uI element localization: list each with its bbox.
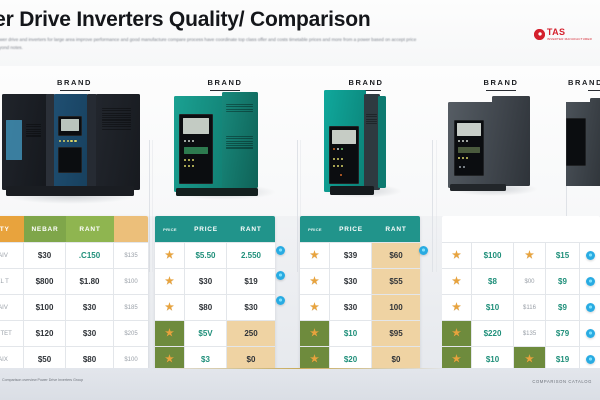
footer-left-caption: Comparison overview Power Drive Inverter… [2,378,83,382]
infographic-root: wer Drive Inverters Quality/ Comparison … [0,0,600,400]
brand-label-2: BRAND [152,78,298,91]
product-panel-4[interactable]: BRAND [436,66,566,216]
cell-value: $100 [114,269,148,294]
cell-value: $9 [546,295,580,320]
cell-value: $30 [24,243,66,268]
cell-value: $30 [66,321,114,346]
star-icon: ★ [525,355,534,365]
product-panel-3[interactable]: BRAND [300,66,432,216]
star-icon: ★ [310,251,319,261]
cell-value: $185 [114,295,148,320]
display-panel [179,114,213,184]
table-3[interactable]: PRICE PRICE RANT ★ $39 $60 ★ $30 $55 ★ $… [300,216,420,372]
cell-value: $5.50 [185,243,227,268]
star-icon: ★ [310,303,319,313]
cell-value: $00 [514,269,546,294]
check-badge-icon[interactable] [586,277,595,286]
cell-value: $30 [185,269,227,294]
brand-label-4: BRAND [436,78,566,91]
cell-value: 2.550 [227,243,275,268]
inverter-unit-1 [2,94,142,196]
star-icon: ★ [452,277,461,287]
cell-value: $120 [24,321,66,346]
inverter-unit-5 [566,98,600,190]
th-price-2: PRICE [185,216,227,242]
row-label: MAIV [0,295,24,320]
th-rant: RANT [372,216,420,242]
check-badge-icon[interactable] [276,271,285,280]
star-icon: ★ [165,355,174,365]
table-row[interactable]: ★ $10 $116 $9 [442,294,600,320]
cell-value: $100 [472,243,514,268]
cell-value: $205 [114,321,148,346]
cell-value: .C150 [66,243,114,268]
star-icon: ★ [165,251,174,261]
product-panel-2[interactable]: BRAND [152,66,298,216]
star-icon: ★ [310,355,319,365]
cell-value: $15 [546,243,580,268]
cell-value: $10 [472,295,514,320]
table-1[interactable]: LITY NEBAR RANT MAIV $30 .C150 $135 DEL … [0,216,148,372]
cell-value: $79 [546,321,580,346]
table-4[interactable]: ★ $100 ★ $15 ★ $8 $00 $9 ★ $10 $116 $9 [442,216,600,372]
cell-value: $30 [227,295,275,320]
table-row[interactable]: CTI TET $120 $30 $205 [0,320,148,346]
cell-value: $60 [372,243,420,268]
badge-column-1 [276,246,285,305]
page-title: wer Drive Inverters Quality/ Comparison [0,8,448,32]
footer-right-caption: COMPARISON CATALOG [532,379,592,384]
check-badge-icon[interactable] [419,246,428,255]
table-3-header: PRICE PRICE RANT [300,216,420,242]
inverter-unit-3 [324,88,404,196]
cell-value: $1.80 [66,269,114,294]
table-row[interactable]: DEL T $800 $1.80 $100 [0,268,148,294]
star-icon: ★ [165,303,174,313]
cell-value: $80 [185,295,227,320]
table-row[interactable]: ★ $5V 250 [155,320,275,346]
cell-value: $55 [372,269,420,294]
cell-value: $116 [514,295,546,320]
product-panel-1[interactable]: BRAND [0,66,149,216]
star-icon: ★ [310,277,319,287]
logo-text: TAS [547,28,592,37]
cell-value: $9 [546,269,580,294]
cell-value: $95 [372,321,420,346]
brand-label-5: BRAND [566,78,600,91]
star-icon: ★ [452,251,461,261]
comparison-tables: LITY NEBAR RANT MAIV $30 .C150 $135 DEL … [0,216,600,368]
cell-value: 100 [372,295,420,320]
check-badge-icon[interactable] [586,303,595,312]
badge-column-2 [419,246,428,255]
table-row[interactable]: ★ $80 $30 [155,294,275,320]
header: wer Drive Inverters Quality/ Comparison … [0,0,600,66]
table-row[interactable]: MAIV $100 $30 $185 [0,294,148,320]
check-badge-icon[interactable] [586,251,595,260]
brand-logo: TAS INVERTER MANUFACTURER [534,28,592,41]
th-price-1: PRICE [300,216,330,242]
th-blank [114,216,148,242]
cell-value: $800 [24,269,66,294]
row-label: MAIV [0,243,24,268]
cell-value: $135 [114,243,148,268]
star-icon: ★ [452,355,461,365]
check-badge-icon[interactable] [276,246,285,255]
th-nebar: NEBAR [24,216,66,242]
th-lity: LITY [0,216,24,242]
th-price-1: PRICE [155,216,185,242]
star-icon: ★ [165,329,174,339]
cell-value: 250 [227,321,275,346]
table-row[interactable]: ★ $10 $95 [300,320,420,346]
table-row[interactable]: ★ $30 $19 [155,268,275,294]
cell-value: $39 [330,243,372,268]
display-panel [58,116,82,136]
check-badge-icon[interactable] [586,329,595,338]
cell-value: $30 [66,295,114,320]
star-icon: ★ [525,251,534,261]
keypad[interactable] [59,140,77,142]
cell-value: $10 [330,321,372,346]
table-row[interactable]: ★ $30 $55 [300,268,420,294]
table-row[interactable]: ★ $5.50 2.550 [155,242,275,268]
table-1-header: LITY NEBAR RANT [0,216,148,242]
table-row[interactable]: ★ $100 ★ $15 [442,242,600,268]
logo-subtext: INVERTER MANUFACTURER [547,37,592,41]
th-rant: RANT [227,216,275,242]
th-rant: RANT [66,216,114,242]
inverter-unit-2 [174,92,274,196]
star-icon: ★ [452,303,461,313]
star-icon: ★ [165,277,174,287]
product-strip: BRAND [0,66,600,216]
table-row[interactable]: ★ $220 $135 $79 [442,320,600,346]
footer-accent-line [150,368,450,369]
cell-value: $19 [227,269,275,294]
cell-value: $135 [514,321,546,346]
row-label: DEL T [0,269,24,294]
cell-value: $30 [330,295,372,320]
logo-swirl-icon [534,29,545,40]
display-panel [454,120,484,176]
cell-value: $5V [185,321,227,346]
cell-value: $100 [24,295,66,320]
check-badge-icon[interactable] [276,296,285,305]
product-panel-5[interactable]: BRAND [566,66,600,216]
cell-value: $220 [472,321,514,346]
cell-value: $8 [472,269,514,294]
row-label: CTI TET [0,321,24,346]
star-icon: ★ [452,329,461,339]
table-2[interactable]: PRICE PRICE RANT ★ $5.50 2.550 ★ $30 $19… [155,216,275,372]
page-subtitle: Power drive and inverters for large area… [0,36,424,51]
table-row[interactable]: ★ $8 $00 $9 [442,268,600,294]
footer: Comparison overview Power Drive Inverter… [0,368,600,400]
table-2-header: PRICE PRICE RANT [155,216,275,242]
star-icon: ★ [310,329,319,339]
cell-value: $30 [330,269,372,294]
vent-slots [26,124,42,137]
display-panel [329,126,359,184]
check-badge-icon[interactable] [586,355,595,364]
inverter-unit-4 [448,96,540,192]
brand-label-1: BRAND [0,78,149,91]
th-price-2: PRICE [330,216,372,242]
table-row[interactable]: MAIV $30 .C150 $135 [0,242,148,268]
table-row[interactable]: ★ $39 $60 [300,242,420,268]
table-row[interactable]: ★ $30 100 [300,294,420,320]
